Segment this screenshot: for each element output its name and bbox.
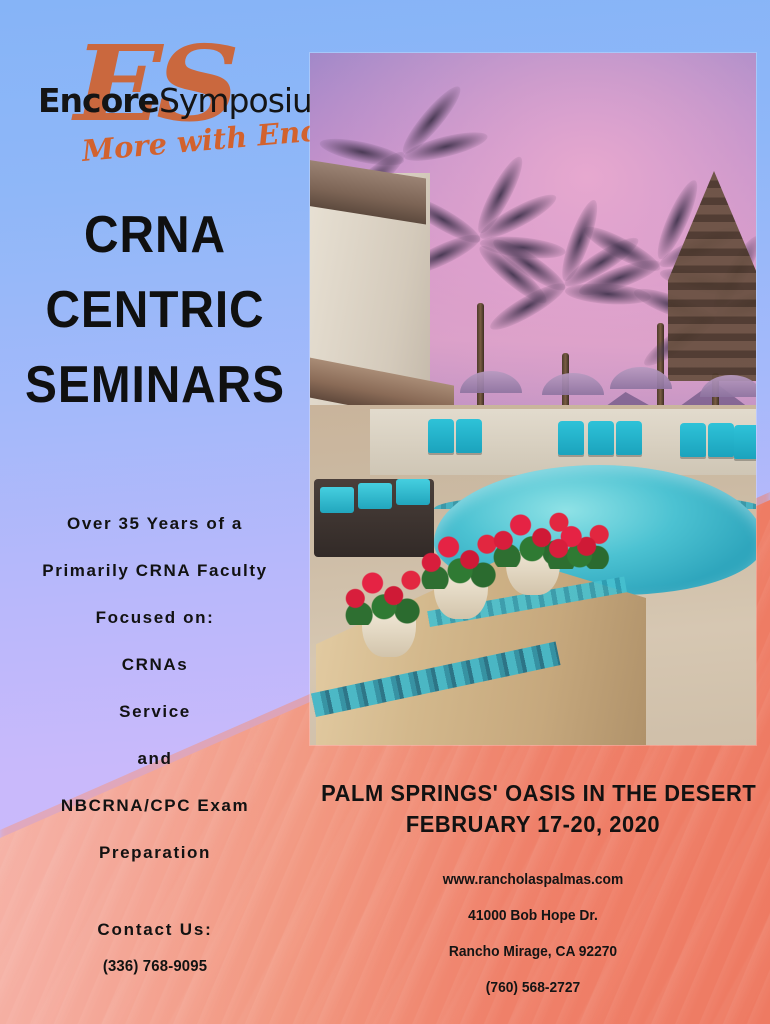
contact-label: Contact Us: [0, 915, 310, 945]
venue-headline-line-2: FEBRUARY 17-20, 2020 [321, 809, 745, 840]
venue-headline-line-1: PALM SPRINGS' OASIS IN THE DESERT [321, 778, 745, 809]
description-line: Service [0, 688, 310, 735]
resort-photo [310, 53, 756, 745]
page-title-line-2: CENTRIC [12, 273, 297, 348]
contact-phone[interactable]: (336) 768-9095 [11, 945, 299, 989]
sofa-cushion [320, 487, 354, 513]
pool-lounger [734, 425, 756, 459]
venue-street: 41000 Bob Hope Dr. [328, 898, 738, 934]
venue-city-state-zip: Rancho Mirage, CA 92270 [328, 934, 738, 970]
description-line: CRNAs [0, 641, 310, 688]
page-title: CRNA CENTRIC SEMINARS [12, 198, 297, 423]
description-line: Over 35 Years of a [0, 500, 310, 547]
venue-website[interactable]: www.rancholaspalmas.com [328, 862, 738, 898]
red-flowers [546, 515, 616, 569]
page-title-line-3: SEMINARS [12, 348, 297, 423]
venue-details: www.rancholaspalmas.com 41000 Bob Hope D… [328, 862, 738, 1006]
pool-lounger [708, 423, 734, 457]
pool-lounger [588, 421, 614, 455]
venue-phone[interactable]: (760) 568-2727 [328, 970, 738, 1006]
venue-headline: PALM SPRINGS' OASIS IN THE DESERT FEBRUA… [321, 778, 745, 840]
description-line: NBCRNA/CPC Exam [0, 782, 310, 829]
page-title-line-1: CRNA [12, 198, 297, 273]
event-flyer: ES EncoreSymposiums® More with Encore! C… [0, 0, 770, 1024]
description-line: and [0, 735, 310, 782]
description-line: Preparation [0, 829, 310, 876]
sofa-cushion [358, 483, 392, 509]
pool-lounger [558, 421, 584, 455]
description-line: Primarily CRNA Faculty [0, 547, 310, 594]
description-line: Focused on: [0, 594, 310, 641]
contact-block: Contact Us: (336) 768-9095 [0, 915, 310, 989]
brand-logo: ES EncoreSymposiums® More with Encore! [28, 36, 308, 186]
pool-lounger [680, 423, 706, 457]
brand-name-bold: Encore [38, 81, 159, 120]
pool-lounger [428, 419, 454, 453]
program-description: Over 35 Years of a Primarily CRNA Facult… [0, 500, 310, 876]
pool-lounger [456, 419, 482, 453]
sofa-cushion [396, 479, 430, 505]
pool-lounger [616, 421, 642, 455]
